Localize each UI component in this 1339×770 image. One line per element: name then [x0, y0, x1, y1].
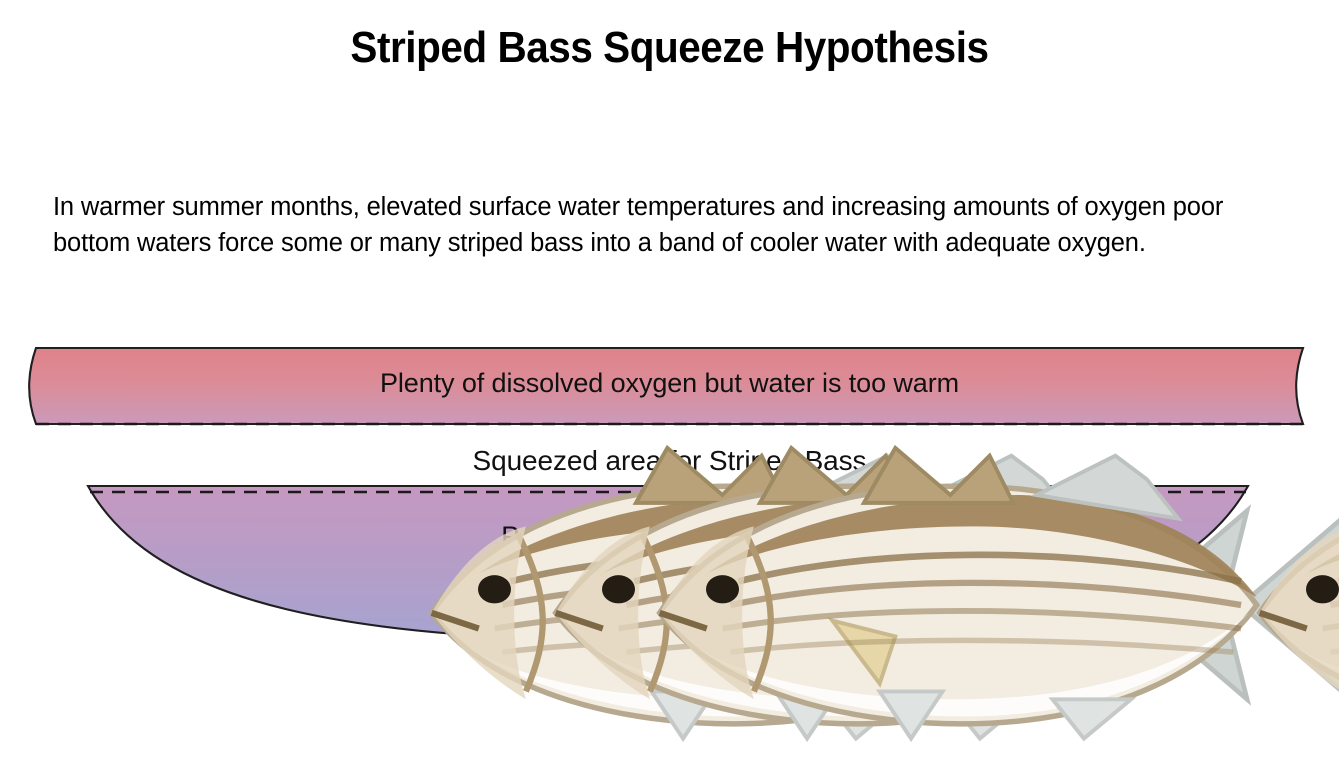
striped-bass-squeeze-diagram: Plenty of dissolved oxygen but water is … — [0, 336, 1339, 666]
fish-sprite-defs — [0, 336, 1339, 666]
intro-paragraph: In warmer summer months, elevated surfac… — [53, 189, 1297, 261]
page-title: Striped Bass Squeeze Hypothesis — [54, 20, 1286, 76]
slide-canvas: Striped Bass Squeeze Hypothesis In warme… — [0, 0, 1339, 692]
